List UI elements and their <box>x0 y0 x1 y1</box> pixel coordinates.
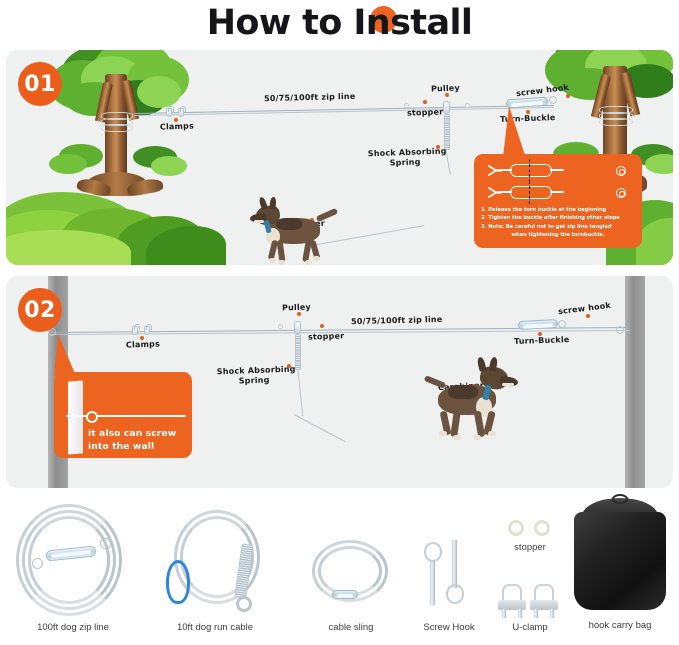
callout-cable-2 <box>66 415 88 417</box>
clamp-hardware <box>132 326 138 335</box>
product-hook-carry-bag[interactable]: hook carry bag <box>564 494 676 642</box>
screw-shaft-icon <box>452 540 457 588</box>
stopper-hardware <box>465 103 470 108</box>
screw-eye-icon <box>446 584 464 604</box>
product-caption: cable sling <box>329 622 374 633</box>
product-stopper[interactable]: stopper <box>490 498 570 560</box>
screw-hook-hardware <box>558 320 566 328</box>
screw-eye-icon <box>424 542 442 562</box>
label-zip-line: 50/75/100ft zip line <box>264 92 356 104</box>
label-dot <box>320 324 324 328</box>
product-caption: U-clamp <box>512 622 547 633</box>
label-dot <box>586 314 590 318</box>
cable-coil-icon <box>318 546 382 596</box>
turnbuckle-diagram-tight <box>484 182 632 203</box>
install-step-panel-02: Clamps Pulley stopper Shock AbsorbingSpr… <box>6 276 673 488</box>
page-title: How to Install <box>207 3 473 43</box>
swivel-icon <box>236 596 252 612</box>
product-gallery: 100ft dog zip line 10ft dog run cable ca… <box>0 496 679 645</box>
wall-post-right <box>625 276 645 488</box>
turnbuckle-instruction-callout: 1. Release the turn buckle at the beginn… <box>474 154 642 248</box>
product-caption: stopper <box>514 542 546 553</box>
stopper-icon <box>534 520 550 536</box>
eye-icon <box>616 166 626 176</box>
page-title-bar: How to Install <box>0 0 679 46</box>
step-badge-01: 01 <box>18 62 62 106</box>
tree-left <box>41 50 206 221</box>
label-shock-spring: Shock AbsorbingSpring <box>217 365 292 388</box>
label-dot <box>445 93 449 97</box>
instruction-step-1: 1. Release the turn buckle at the beginn… <box>481 206 635 214</box>
label-clamps: Clamps <box>154 121 200 133</box>
turnbuckle-diagram-open <box>484 160 632 181</box>
shock-absorbing-spring-hardware <box>295 334 301 370</box>
product-u-clamp[interactable]: U-clamp <box>488 574 572 642</box>
product-caption: Screw Hook <box>423 622 474 633</box>
instruction-step-3: 3. Note: Be careful not to get zip line … <box>481 223 635 231</box>
label-turn-buckle: Turn-Buckle <box>514 335 570 347</box>
stopper-hardware <box>404 103 409 108</box>
wall-mount-callout: it also can screwinto the wall <box>54 372 192 458</box>
product-caption: 10ft dog run cable <box>177 622 253 633</box>
install-step-panel-01: Clamps 50/75/100ft zip line stopper Pull… <box>6 50 673 265</box>
rotation-arrow-icon <box>529 159 541 182</box>
rotation-arrow-icon <box>529 181 541 204</box>
clamp-hardware <box>166 108 172 117</box>
product-dog-zip-line[interactable]: 100ft dog zip line <box>8 498 138 643</box>
sling-ferrule-icon <box>332 590 358 599</box>
label-dot <box>436 145 440 149</box>
instruction-step-2: 2. Tighten the buckle after finishing ot… <box>481 214 635 222</box>
callout-tail <box>54 334 76 376</box>
wall-plate-illustration <box>68 380 83 454</box>
label-shock-spring: Shock AbsorbingSpring <box>368 147 443 170</box>
eye-icon <box>616 188 626 198</box>
screw-shaft-icon <box>430 560 435 606</box>
label-stopper: stopper <box>407 107 444 118</box>
product-caption: 100ft dog zip line <box>37 622 109 633</box>
label-dot <box>297 312 301 316</box>
label-stopper: stopper <box>308 331 345 342</box>
screw-eye-anchor-right <box>616 326 624 334</box>
product-cable-sling[interactable]: cable sling <box>296 498 406 643</box>
bag-body-icon <box>574 512 666 610</box>
leash-cable <box>294 414 346 442</box>
pulley-hardware <box>443 101 450 114</box>
product-caption: hook carry bag <box>589 620 652 631</box>
carabiner-icon <box>166 560 190 604</box>
dog-illustration <box>246 198 342 265</box>
clamp-hardware <box>178 108 184 117</box>
hook-eye-icon <box>32 558 43 569</box>
leash-cable <box>298 370 304 416</box>
label-dot <box>287 364 291 368</box>
product-screw-hook[interactable]: Screw Hook <box>404 498 494 643</box>
label-dot <box>538 332 542 336</box>
wall-note-text: it also can screwinto the wall <box>88 427 176 454</box>
label-zip-line: 50/75/100ft zip line <box>351 315 443 327</box>
label-dot <box>140 336 144 340</box>
label-dot <box>174 118 178 122</box>
clamp-thread-icon <box>518 609 522 618</box>
step-badge-02: 02 <box>18 288 62 332</box>
clamp-hardware <box>144 326 150 335</box>
screw-hook-hardware <box>549 96 557 104</box>
hook-eye-icon <box>100 538 111 549</box>
label-screw-hook: screw hook <box>558 301 612 317</box>
instruction-step-3-cont: when tightening the turnbuckle. <box>481 231 635 239</box>
label-clamps: Clamps <box>120 339 166 351</box>
dog-illustration-2 <box>420 361 530 447</box>
bag-drawstring-loop <box>612 494 628 504</box>
pulley-hardware <box>294 321 301 334</box>
stopper-hardware <box>278 324 283 329</box>
clamp-thread-icon <box>502 609 506 618</box>
label-dot <box>423 100 427 104</box>
clamp-thread-icon <box>534 609 538 618</box>
callout-cable <box>98 415 186 417</box>
label-dot <box>566 94 570 98</box>
product-dog-run-cable[interactable]: 10ft dog run cable <box>150 498 280 643</box>
stopper-icon <box>508 520 524 536</box>
screw-eye-icon <box>86 411 98 423</box>
clamp-thread-icon <box>550 609 554 618</box>
shock-absorbing-spring-hardware <box>444 114 450 150</box>
